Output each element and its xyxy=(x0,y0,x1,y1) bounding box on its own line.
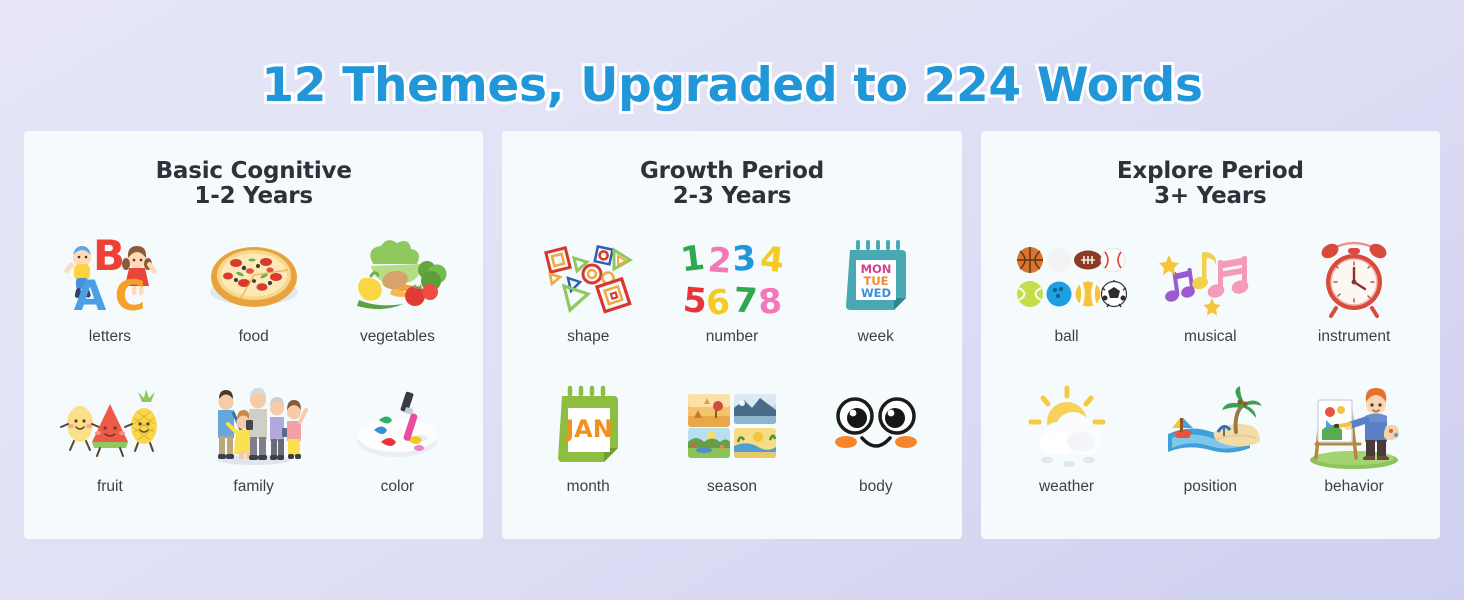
svg-text:A: A xyxy=(74,271,107,320)
theme-item-label: instrument xyxy=(1318,328,1390,346)
month-abbr: JAN xyxy=(563,415,613,443)
theme-item-label: week xyxy=(858,328,894,346)
theme-item-label: color xyxy=(381,478,415,496)
star-icon xyxy=(1159,255,1179,275)
digit-3: 3 xyxy=(731,238,757,280)
fruit-icon xyxy=(56,380,164,472)
theme-item-fruit[interactable]: fruit xyxy=(38,380,182,530)
card-item-grid: shape 1 2 3 4 5 6 7 8 xyxy=(516,230,947,539)
card-basic-cognitive: Basic Cognitive 1-2 Years xyxy=(24,131,483,539)
theme-item-label: shape xyxy=(567,328,609,346)
digit-7: 7 xyxy=(733,281,759,322)
digit-2: 2 xyxy=(707,240,733,282)
theme-item-musical[interactable]: musical xyxy=(1138,230,1282,380)
baseball-icon xyxy=(1101,248,1125,272)
theme-item-season[interactable]: season xyxy=(660,380,804,530)
card-heading: Explore Period 3+ Years xyxy=(995,159,1426,208)
abc-letters-icon: B A C xyxy=(56,230,164,322)
vegetables-icon xyxy=(343,230,451,322)
theme-item-label: letters xyxy=(89,328,131,346)
week-calendar-icon: MON TUE WED xyxy=(822,230,930,322)
card-heading: Growth Period 2-3 Years xyxy=(516,159,947,208)
theme-item-label: number xyxy=(706,328,759,346)
theme-item-position[interactable]: position xyxy=(1138,380,1282,530)
digit-6: 6 xyxy=(704,282,731,324)
family-icon xyxy=(200,380,308,472)
theme-item-number[interactable]: 1 2 3 4 5 6 7 8 number xyxy=(660,230,804,380)
bowling-ball-icon xyxy=(1046,282,1071,307)
theme-item-vegetables[interactable]: vegetables xyxy=(326,230,470,380)
star-icon xyxy=(1204,298,1221,316)
card-item-grid: ball xyxy=(995,230,1426,539)
theme-item-shape[interactable]: shape xyxy=(516,230,660,380)
theme-item-label: ball xyxy=(1054,328,1078,346)
theme-item-instrument[interactable]: instrument xyxy=(1282,230,1426,380)
football-icon xyxy=(1074,251,1102,270)
theme-item-label: season xyxy=(707,478,757,496)
theme-item-label: weather xyxy=(1039,478,1094,496)
month-calendar-icon: JAN xyxy=(534,380,642,472)
theme-item-family[interactable]: family xyxy=(182,380,326,530)
card-explore-period: Explore Period 3+ Years xyxy=(981,131,1440,539)
theme-item-letters[interactable]: B A C letters xyxy=(38,230,182,380)
card-growth-period: Growth Period 2-3 Years xyxy=(502,131,961,539)
golf-ball-icon xyxy=(1047,248,1071,272)
pizza-icon xyxy=(200,230,308,322)
paint-palette-icon xyxy=(343,380,451,472)
week-day-wed: WED xyxy=(861,286,891,300)
digit-1: 1 xyxy=(678,238,706,281)
balls-icon xyxy=(1013,230,1121,322)
season-summer xyxy=(734,428,776,458)
season-winter xyxy=(734,394,776,424)
tennis-ball-icon xyxy=(1017,281,1043,307)
face-body-icon xyxy=(822,380,930,472)
shapes-icon xyxy=(534,230,642,322)
theme-item-month[interactable]: JAN month xyxy=(516,380,660,530)
theme-item-label: behavior xyxy=(1324,478,1383,496)
digit-4: 4 xyxy=(758,239,786,281)
theme-item-behavior[interactable]: behavior xyxy=(1282,380,1426,530)
theme-item-label: vegetables xyxy=(360,328,435,346)
basketball-icon xyxy=(1017,247,1043,273)
theme-item-label: fruit xyxy=(97,478,123,496)
theme-item-food[interactable]: food xyxy=(182,230,326,380)
numbers-icon: 1 2 3 4 5 6 7 8 xyxy=(678,230,786,322)
page-title: 12 Themes, Upgraded to 224 Words xyxy=(0,62,1464,109)
island-beach-icon xyxy=(1156,380,1264,472)
theme-cards-row: Basic Cognitive 1-2 Years xyxy=(0,131,1464,539)
digit-8: 8 xyxy=(757,281,783,323)
card-item-grid: B A C letters xyxy=(38,230,469,539)
theme-item-label: family xyxy=(233,478,273,496)
season-spring xyxy=(688,428,730,458)
soccer-ball-icon xyxy=(1101,280,1126,307)
child-painting-icon xyxy=(1300,380,1408,472)
theme-item-week[interactable]: MON TUE WED week xyxy=(804,230,948,380)
season-autumn xyxy=(688,394,730,427)
alarm-clock-icon xyxy=(1300,230,1408,322)
theme-item-ball[interactable]: ball xyxy=(995,230,1139,380)
theme-item-weather[interactable]: weather xyxy=(995,380,1139,530)
theme-item-label: month xyxy=(567,478,610,496)
theme-item-label: position xyxy=(1184,478,1237,496)
theme-item-label: musical xyxy=(1184,328,1237,346)
card-heading: Basic Cognitive 1-2 Years xyxy=(38,159,469,208)
theme-item-label: body xyxy=(859,478,893,496)
volleyball-icon xyxy=(1075,282,1100,307)
theme-item-color[interactable]: color xyxy=(326,380,470,530)
svg-text:C: C xyxy=(114,271,145,320)
theme-item-label: food xyxy=(239,328,269,346)
theme-item-body[interactable]: body xyxy=(804,380,948,530)
seasons-icon xyxy=(678,380,786,472)
sun-cloud-icon xyxy=(1013,380,1121,472)
music-notes-icon xyxy=(1156,230,1264,322)
